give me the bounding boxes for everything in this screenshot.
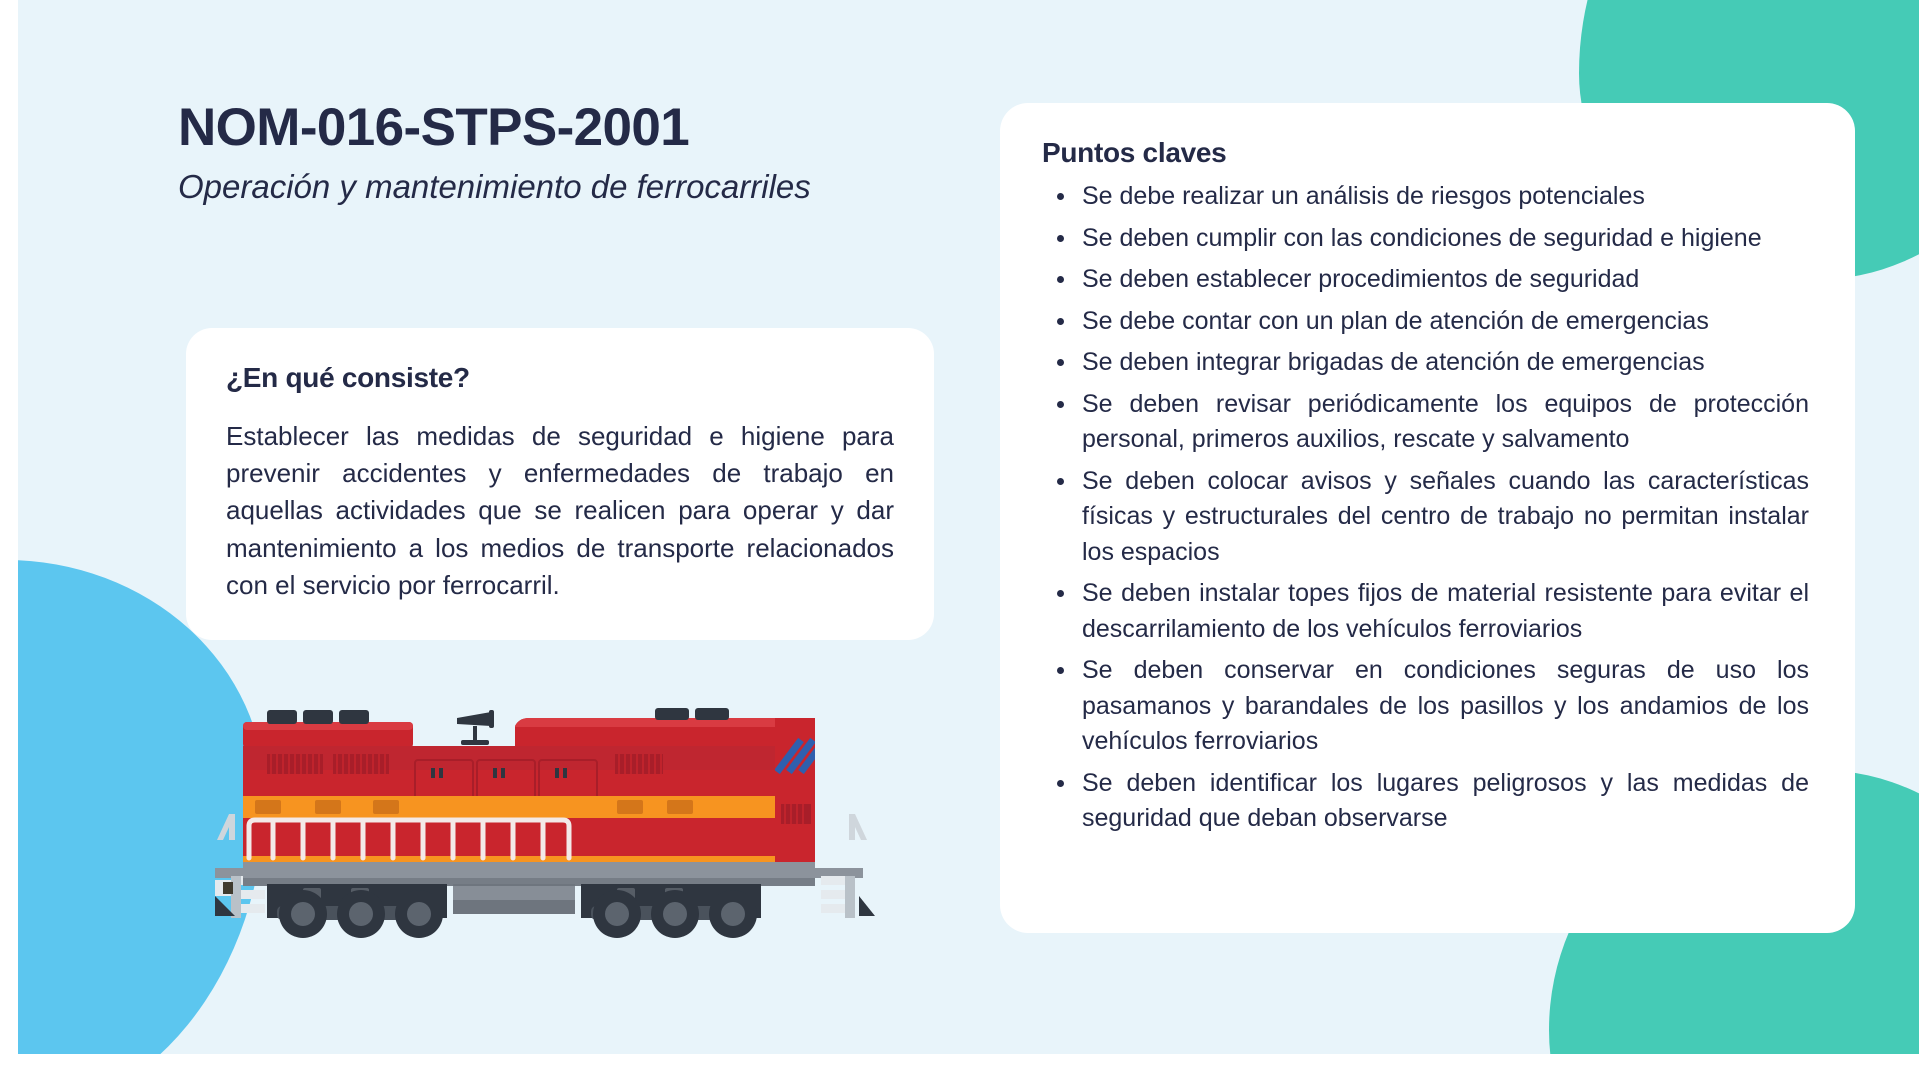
key-point-item: Se deben colocar avisos y señales cuando… — [1082, 464, 1809, 571]
white-frame-bottom — [0, 1054, 1919, 1080]
key-point-item: Se deben cumplir con las condiciones de … — [1082, 221, 1809, 257]
key-point-item: Se deben identificar los lugares peligro… — [1082, 766, 1809, 837]
key-point-item: Se deben conservar en condiciones segura… — [1082, 653, 1809, 760]
key-point-item: Se deben establecer procedimientos de se… — [1082, 262, 1809, 298]
white-frame-left — [0, 0, 18, 1080]
key-point-item: Se deben integrar brigadas de atención d… — [1082, 345, 1809, 381]
page-title: NOM-016-STPS-2001 — [178, 100, 838, 156]
locomotive-illustration — [215, 700, 875, 940]
key-point-item: Se debe contar con un plan de atención d… — [1082, 304, 1809, 340]
key-points-heading: Puntos claves — [1042, 137, 1809, 169]
page-subtitle: Operación y mantenimiento de ferrocarril… — [178, 166, 838, 208]
key-points-list: Se debe realizar un análisis de riesgos … — [1042, 179, 1809, 837]
infographic-slide: NOM-016-STPS-2001 Operación y mantenimie… — [0, 0, 1919, 1080]
what-is-it-body: Establecer las medidas de seguridad e hi… — [226, 418, 894, 604]
title-block: NOM-016-STPS-2001 Operación y mantenimie… — [178, 100, 838, 208]
what-is-it-heading: ¿En qué consiste? — [226, 362, 894, 394]
key-point-item: Se deben revisar periódicamente los equi… — [1082, 387, 1809, 458]
key-points-card: Puntos claves Se debe realizar un anális… — [1000, 103, 1855, 933]
key-point-item: Se deben instalar topes fijos de materia… — [1082, 576, 1809, 647]
key-point-item: Se debe realizar un análisis de riesgos … — [1082, 179, 1809, 215]
what-is-it-card: ¿En qué consiste? Establecer las medidas… — [186, 328, 934, 640]
